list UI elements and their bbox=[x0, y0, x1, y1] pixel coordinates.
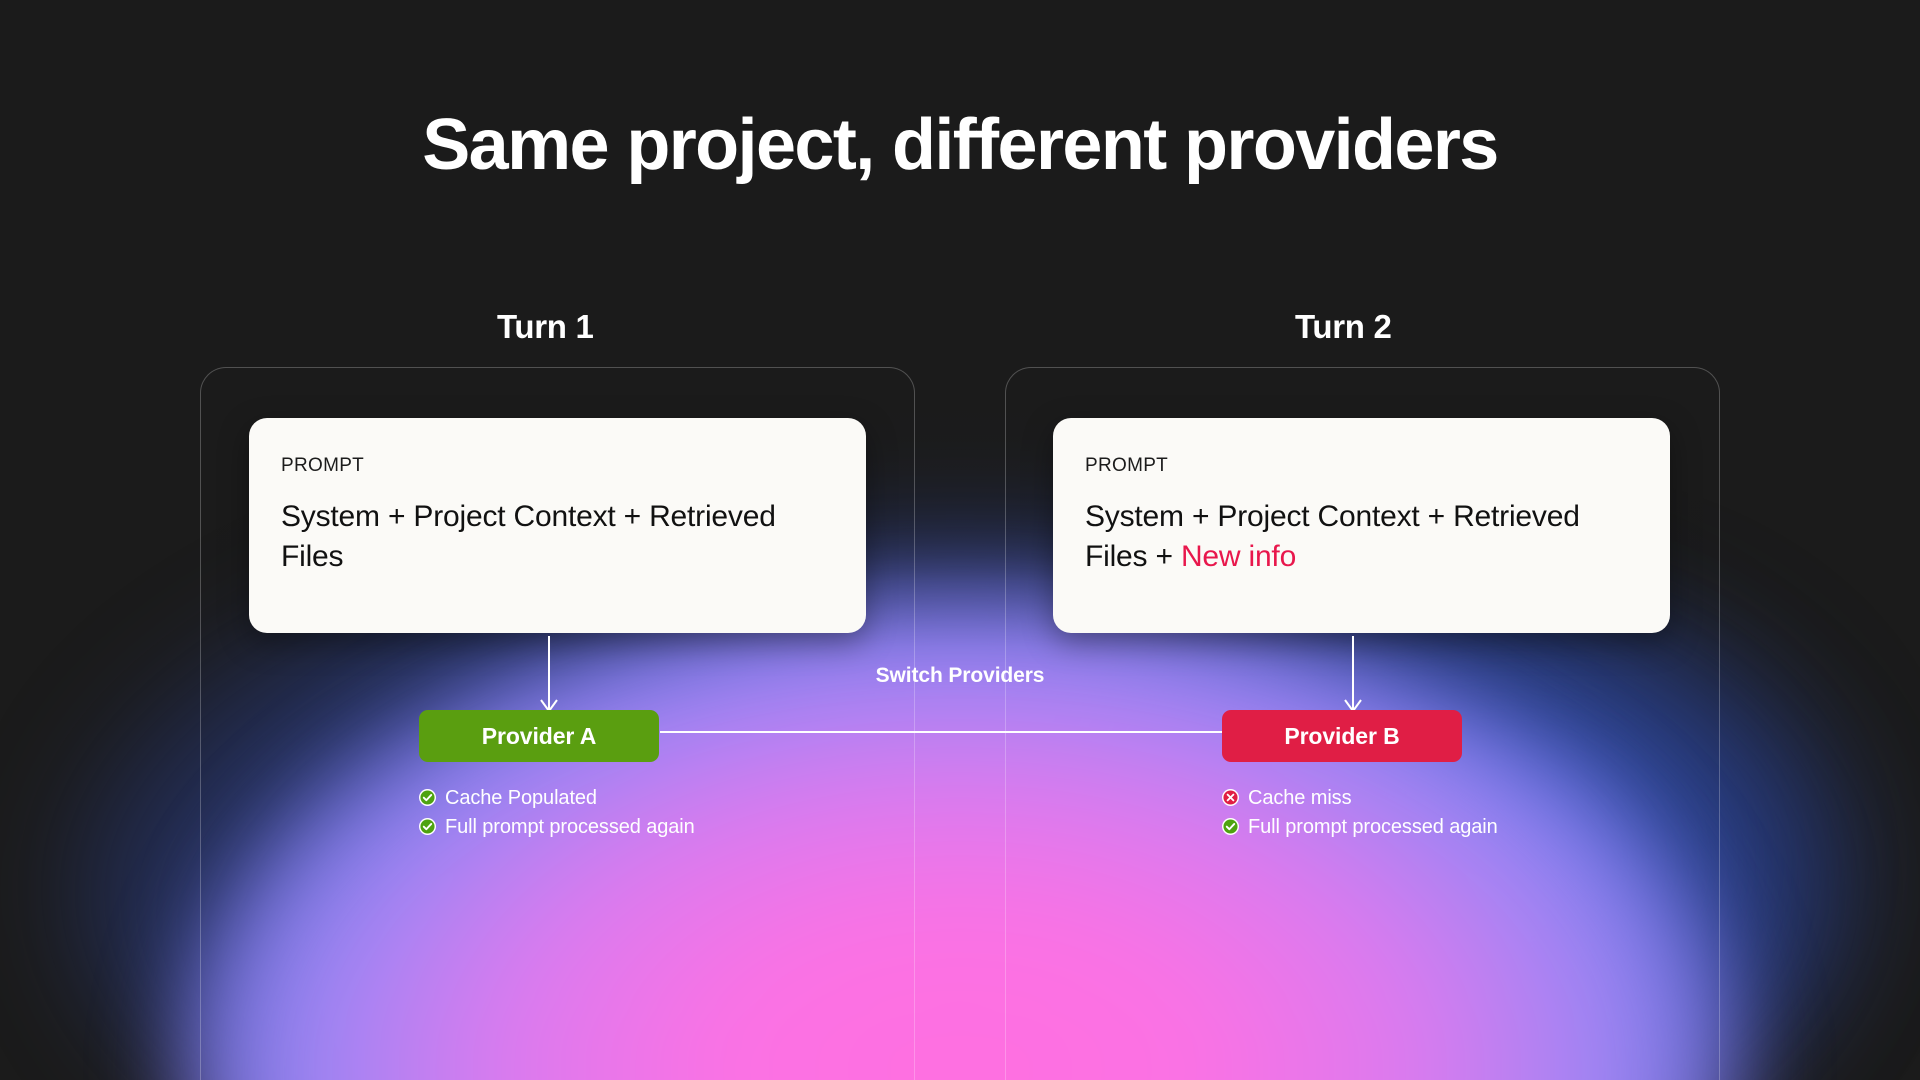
check-circle-icon bbox=[419, 789, 436, 806]
prompt-kicker-1: PROMPT bbox=[281, 456, 834, 475]
provider-button-b[interactable]: Provider B bbox=[1222, 710, 1462, 762]
x-circle-icon bbox=[1222, 789, 1239, 806]
provider-label-b: Provider B bbox=[1284, 723, 1399, 750]
diagram-canvas: Same project, different providers Turn 1… bbox=[0, 0, 1920, 1080]
provider-label-a: Provider A bbox=[482, 723, 596, 750]
check-row: Cache Populated bbox=[419, 785, 695, 810]
turn-label-1: Turn 1 bbox=[497, 308, 594, 346]
prompt-kicker-2: PROMPT bbox=[1085, 456, 1638, 475]
check-row: Full prompt processed again bbox=[419, 814, 695, 839]
turn-label-2: Turn 2 bbox=[1295, 308, 1392, 346]
check-label: Full prompt processed again bbox=[445, 817, 695, 837]
provider-button-a[interactable]: Provider A bbox=[419, 710, 659, 762]
prompt-body-base-1: System + Project Context + Retrieved Fil… bbox=[281, 500, 776, 573]
arrow-prompt-to-provider-1 bbox=[536, 636, 562, 712]
prompt-card-1: PROMPT System + Project Context + Retrie… bbox=[249, 418, 866, 633]
check-circle-icon bbox=[1222, 818, 1239, 835]
prompt-card-2: PROMPT System + Project Context + Retrie… bbox=[1053, 418, 1670, 633]
prompt-body-2: System + Project Context + Retrieved Fil… bbox=[1085, 497, 1638, 577]
arrow-prompt-to-provider-2 bbox=[1340, 636, 1366, 712]
check-row: Full prompt processed again bbox=[1222, 814, 1498, 839]
check-label: Cache Populated bbox=[445, 788, 597, 808]
check-label: Cache miss bbox=[1248, 788, 1351, 808]
checklist-turn-1: Cache Populated Full prompt processed ag… bbox=[419, 785, 695, 843]
turns-container: Turn 1 PROMPT System + Project Context +… bbox=[0, 0, 1920, 1080]
prompt-body-accent-2: New info bbox=[1181, 540, 1296, 573]
prompt-body-1: System + Project Context + Retrieved Fil… bbox=[281, 497, 834, 577]
prompt-body-base-2: System + Project Context + Retrieved Fil… bbox=[1085, 500, 1580, 573]
check-circle-icon bbox=[419, 818, 436, 835]
check-label: Full prompt processed again bbox=[1248, 817, 1498, 837]
checklist-turn-2: Cache miss Full prompt processed again bbox=[1222, 785, 1498, 843]
check-row: Cache miss bbox=[1222, 785, 1498, 810]
